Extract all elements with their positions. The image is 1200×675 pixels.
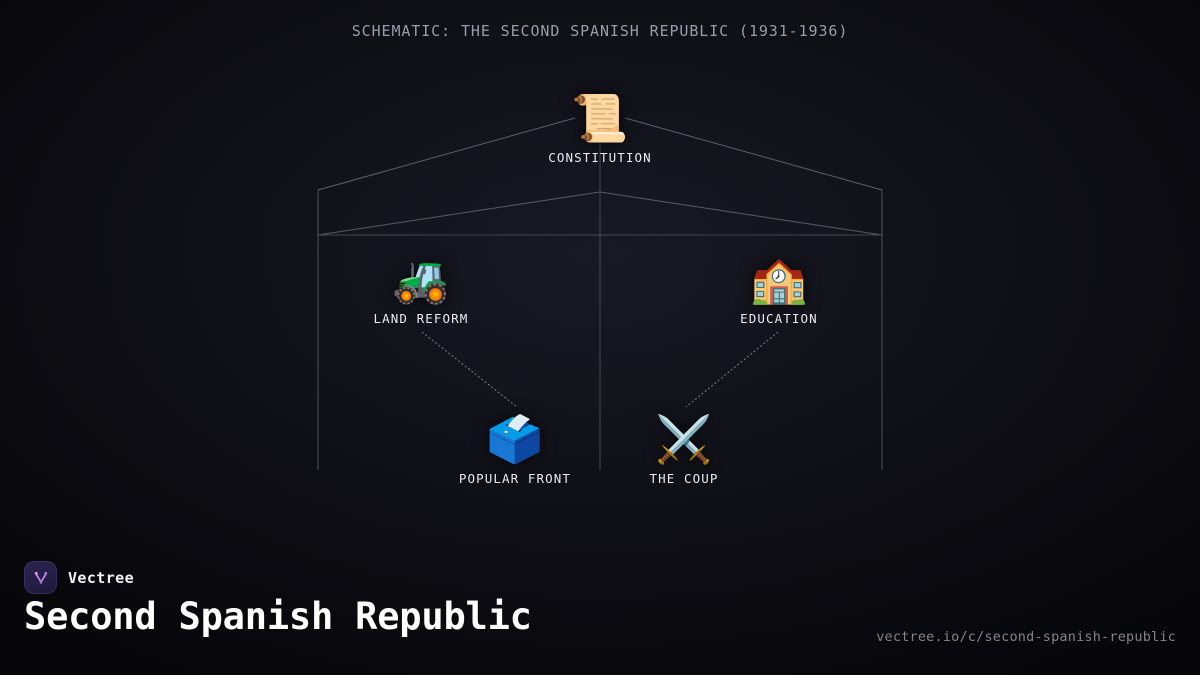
crossed-swords-icon: ⚔️ [584,413,784,465]
node-constitution[interactable]: 📜 CONSTITUTION [500,92,700,165]
school-icon: 🏫 [679,253,879,305]
node-label-the-coup: THE COUP [584,471,784,486]
node-label-constitution: CONSTITUTION [500,150,700,165]
vectree-logo-icon [24,561,57,594]
scroll-icon: 📜 [500,92,700,144]
brand[interactable]: Vectree [24,561,134,594]
brand-name: Vectree [68,569,134,587]
schematic-canvas: SCHEMATIC: THE SECOND SPANISH REPUBLIC (… [0,0,1200,675]
node-the-coup[interactable]: ⚔️ THE COUP [584,413,784,486]
node-land-reform[interactable]: 🚜 LAND REFORM [321,253,521,326]
node-education[interactable]: 🏫 EDUCATION [679,253,879,326]
edge-education-the-coup [686,332,778,407]
edge-land-reform-popular-front [422,332,517,407]
tractor-icon: 🚜 [321,253,521,305]
node-label-education: EDUCATION [679,311,879,326]
node-label-land-reform: LAND REFORM [321,311,521,326]
footer: Vectree Second Spanish Republic vectree.… [0,555,1200,675]
page-url: vectree.io/c/second-spanish-republic [876,629,1176,645]
page-title: Second Spanish Republic [24,595,532,638]
